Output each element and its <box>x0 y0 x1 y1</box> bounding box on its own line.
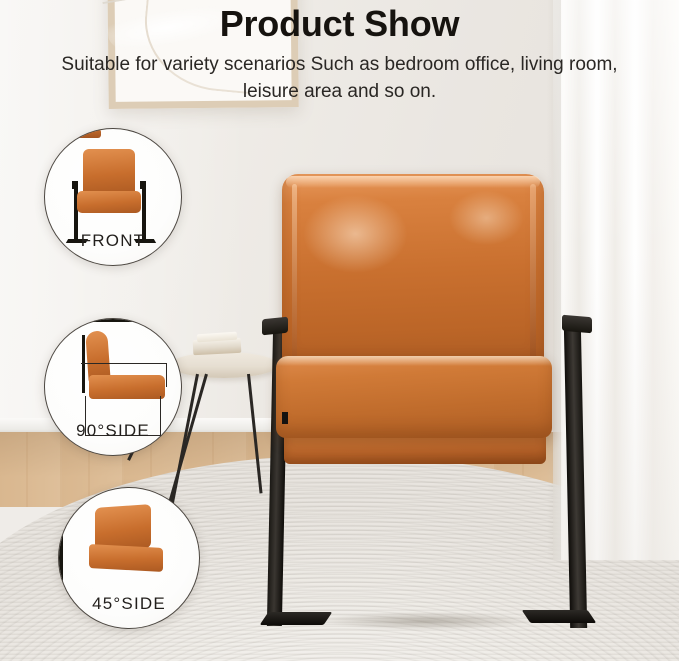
mini-front-seat-base <box>45 129 101 138</box>
chair-armrest-left <box>262 317 288 336</box>
badge-label-45-side: 45°SIDE <box>59 594 199 614</box>
main-product-chair <box>258 160 598 630</box>
chair-frame-right-rail <box>564 324 587 628</box>
mini-45-leg-left <box>59 488 63 550</box>
mini-90-seat-rail <box>45 319 141 322</box>
mini-45-seat <box>89 544 163 572</box>
mini-front-arm-right <box>140 181 146 189</box>
mini-front-backrest <box>83 149 135 195</box>
badge-label-90-side: 90°SIDE <box>45 421 181 441</box>
product-show-image: Product Show Suitable for variety scenar… <box>0 0 679 661</box>
chair-side-connector <box>282 412 288 424</box>
callout-badge-front[interactable]: FRONT <box>44 128 182 266</box>
mini-front-seat <box>77 191 141 213</box>
chair-armrest-right <box>562 315 592 334</box>
callout-badge-45-side[interactable]: 45°SIDE <box>58 487 200 629</box>
chair-sled-base-left <box>260 612 333 625</box>
chair-sled-base-right <box>522 610 597 623</box>
chair-back-cushion <box>282 174 544 374</box>
mini-front-arm-left <box>72 181 78 189</box>
chair-side-90-view-icon <box>45 319 141 322</box>
back-cushion-seam-left <box>292 184 297 366</box>
page-subtitle: Suitable for variety scenarios Such as b… <box>60 52 620 106</box>
badge-label-front: FRONT <box>45 231 181 251</box>
chair-seat-cushion <box>276 356 552 438</box>
chair-front-view-icon <box>45 129 101 138</box>
callout-badge-90-side[interactable]: 90°SIDE <box>44 318 182 456</box>
page-title: Product Show <box>0 3 679 45</box>
back-cushion-seam-right <box>530 184 536 366</box>
